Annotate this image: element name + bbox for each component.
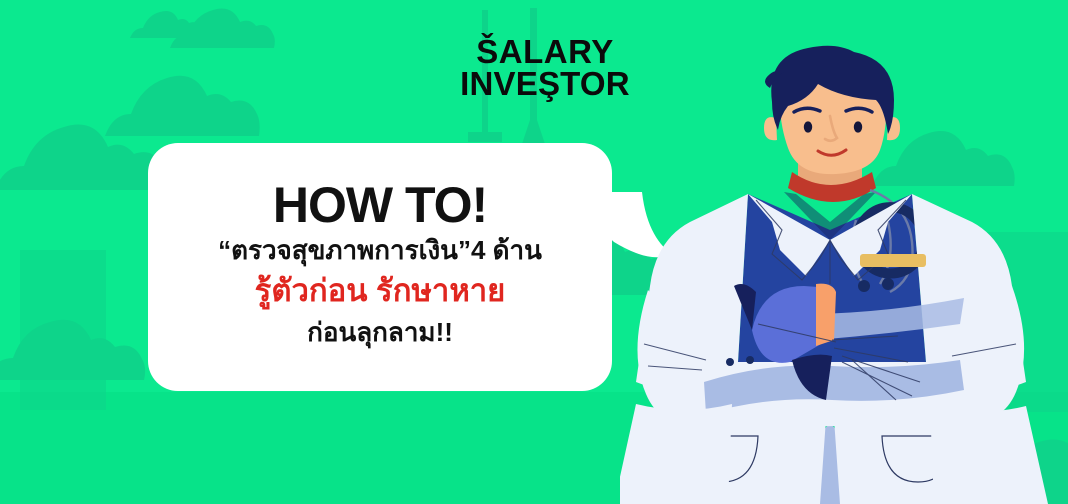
headline-how-to: HOW TO! bbox=[273, 180, 487, 231]
logo-line-investor: INVEŞTOR bbox=[455, 68, 635, 100]
subheadline-thai-line-1: “ตรวจสุขภาพการเงิน”4 ด้าน bbox=[218, 233, 542, 268]
salary-investor-logo: ŠALARY INVEŞTOR bbox=[455, 36, 635, 101]
speech-bubble-content: HOW TO! “ตรวจสุขภาพการเงิน”4 ด้าน รู้ตัว… bbox=[148, 143, 612, 391]
head bbox=[764, 46, 900, 174]
subheadline-thai-line-2-red: รู้ตัวก่อน รักษาหาย bbox=[255, 270, 506, 312]
coat-hem-left bbox=[620, 404, 732, 504]
logo-line-salary: ŠALARY bbox=[455, 36, 635, 68]
eye-right bbox=[854, 121, 862, 132]
doctor-illustration bbox=[620, 44, 1050, 504]
hand-skin-strip bbox=[816, 284, 836, 346]
coat-hem-right bbox=[930, 406, 1048, 504]
stethoscope-node-right bbox=[882, 278, 894, 290]
name-badge bbox=[860, 254, 926, 267]
cuff-button-left bbox=[726, 358, 734, 366]
eye-left bbox=[804, 121, 812, 132]
stethoscope-node-left bbox=[858, 280, 870, 292]
cuff-button-right bbox=[746, 356, 754, 364]
poster-canvas: ŠALARY INVEŞTOR HOW TO! “ตรวจสุขภาพการเง… bbox=[0, 0, 1068, 504]
subheadline-thai-line-3: ก่อนลุกลาม!! bbox=[307, 315, 453, 350]
speech-bubble: HOW TO! “ตรวจสุขภาพการเงิน”4 ด้าน รู้ตัว… bbox=[148, 143, 612, 391]
